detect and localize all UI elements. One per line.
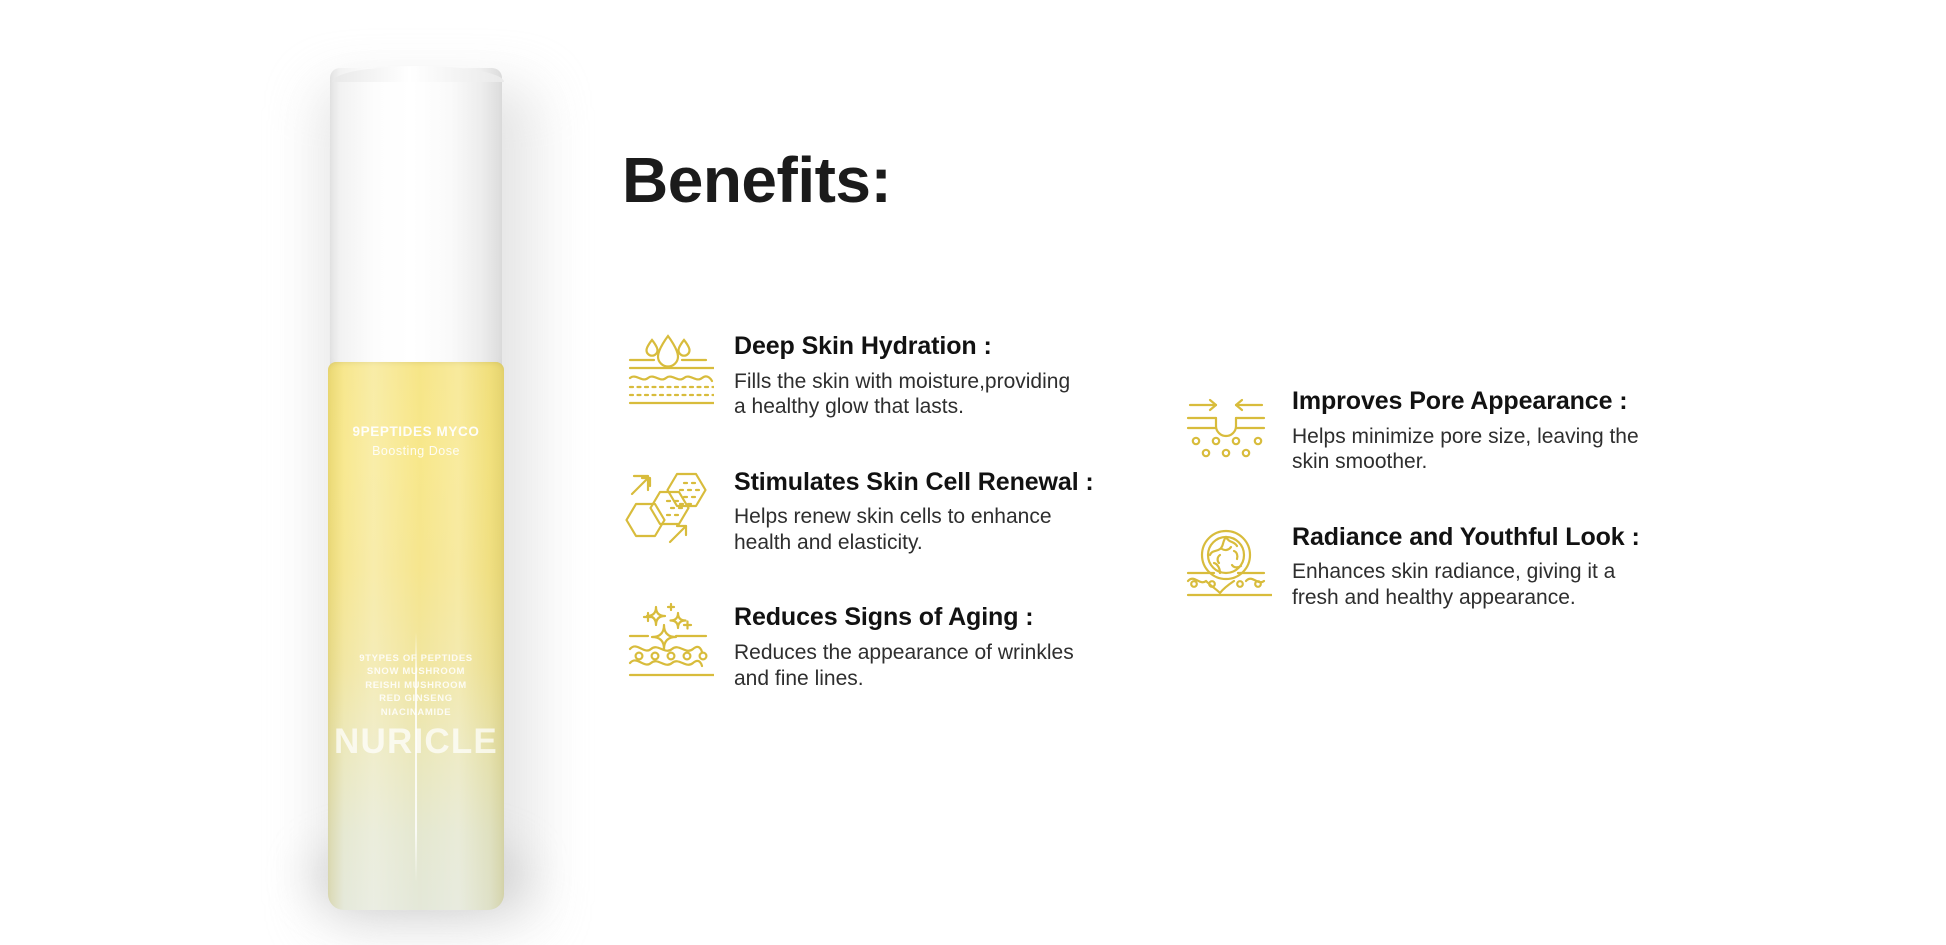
benefit-description-line: fresh and healthy appearance. — [1292, 585, 1640, 611]
bottle-cap-top-highlight — [332, 66, 504, 82]
brand-name: NURICLE — [328, 722, 504, 762]
ingredient-item: NIACINAMIDE — [328, 706, 504, 719]
benefit-description-line: and fine lines. — [734, 666, 1074, 692]
ingredient-list: 9TYPES OF PEPTIDES SNOW MUSHROOM REISHI … — [328, 652, 504, 719]
benefit-text: Radiance and Youthful Look : Enhances sk… — [1292, 521, 1640, 611]
water-drop-skin-layers-icon — [622, 330, 714, 414]
product-subtitle: Boosting Dose — [328, 444, 504, 458]
bottle-cap — [330, 68, 502, 370]
benefit-description-line: a healthy glow that lasts. — [734, 394, 1070, 420]
ingredient-item: REISHI MUSHROOM — [328, 679, 504, 692]
benefit-description: Fills the skin with moisture,providing a… — [734, 369, 1070, 420]
benefit-description: Helps renew skin cells to enhance health… — [734, 504, 1094, 555]
benefit-title: Stimulates Skin Cell Renewal : — [734, 468, 1094, 498]
benefit-description-line: Enhances skin radiance, giving it a — [1292, 559, 1640, 585]
benefits-column-left: Deep Skin Hydration : Fills the skin wit… — [622, 330, 1052, 737]
benefit-title: Improves Pore Appearance : — [1292, 387, 1639, 417]
product-name: 9PEPTIDES MYCO — [328, 424, 504, 439]
benefit-text: Reduces Signs of Aging : Reduces the app… — [734, 601, 1074, 691]
bottle-body: 9PEPTIDES MYCO Boosting Dose 9TYPES OF P… — [328, 362, 504, 910]
benefit-item-reduces-signs-of-aging: Reduces Signs of Aging : Reduces the app… — [622, 601, 1052, 691]
product-bottle-figure: 9PEPTIDES MYCO Boosting Dose 9TYPES OF P… — [300, 40, 550, 920]
benefit-title: Reduces Signs of Aging : — [734, 603, 1074, 633]
ingredient-item: RED GINSENG — [328, 692, 504, 705]
benefit-item-deep-skin-hydration: Deep Skin Hydration : Fills the skin wit… — [622, 330, 1052, 420]
benefits-column-right: Improves Pore Appearance : Helps minimiz… — [1180, 385, 1610, 656]
benefit-title: Deep Skin Hydration : — [734, 332, 1070, 362]
benefit-item-radiance-and-youthful-look: Radiance and Youthful Look : Enhances sk… — [1180, 521, 1610, 611]
benefit-text: Stimulates Skin Cell Renewal : Helps ren… — [734, 466, 1094, 556]
radiance-sun-skin-icon — [1180, 521, 1272, 605]
benefit-description-line: Helps minimize pore size, leaving the — [1292, 424, 1639, 450]
benefit-description-line: health and elasticity. — [734, 530, 1094, 556]
bottle: 9PEPTIDES MYCO Boosting Dose 9TYPES OF P… — [328, 68, 504, 910]
bottle-center-highlight — [415, 632, 417, 882]
benefit-item-improves-pore-appearance: Improves Pore Appearance : Helps minimiz… — [1180, 385, 1610, 475]
ingredient-item: SNOW MUSHROOM — [328, 665, 504, 678]
benefit-description-line: Fills the skin with moisture,providing — [734, 369, 1070, 395]
sparkles-wrinkle-skin-icon — [622, 601, 714, 685]
page-title: Benefits: — [622, 148, 891, 212]
benefit-text: Deep Skin Hydration : Fills the skin wit… — [734, 330, 1070, 420]
benefit-title: Radiance and Youthful Look : — [1292, 523, 1640, 553]
ingredient-item: 9TYPES OF PEPTIDES — [328, 652, 504, 665]
pore-arrows-icon — [1180, 385, 1272, 469]
benefit-description-line: skin smoother. — [1292, 449, 1639, 475]
benefit-description: Helps minimize pore size, leaving the sk… — [1292, 424, 1639, 475]
benefit-description: Enhances skin radiance, giving it a fres… — [1292, 559, 1640, 610]
benefit-description-line: Reduces the appearance of wrinkles — [734, 640, 1074, 666]
hexagon-cells-arrows-icon — [622, 466, 714, 550]
bottle-label: 9PEPTIDES MYCO Boosting Dose — [328, 424, 504, 458]
benefit-item-stimulates-skin-cell-renewal: Stimulates Skin Cell Renewal : Helps ren… — [622, 466, 1052, 556]
benefit-description: Reduces the appearance of wrinkles and f… — [734, 640, 1074, 691]
benefit-text: Improves Pore Appearance : Helps minimiz… — [1292, 385, 1639, 475]
benefit-description-line: Helps renew skin cells to enhance — [734, 504, 1094, 530]
